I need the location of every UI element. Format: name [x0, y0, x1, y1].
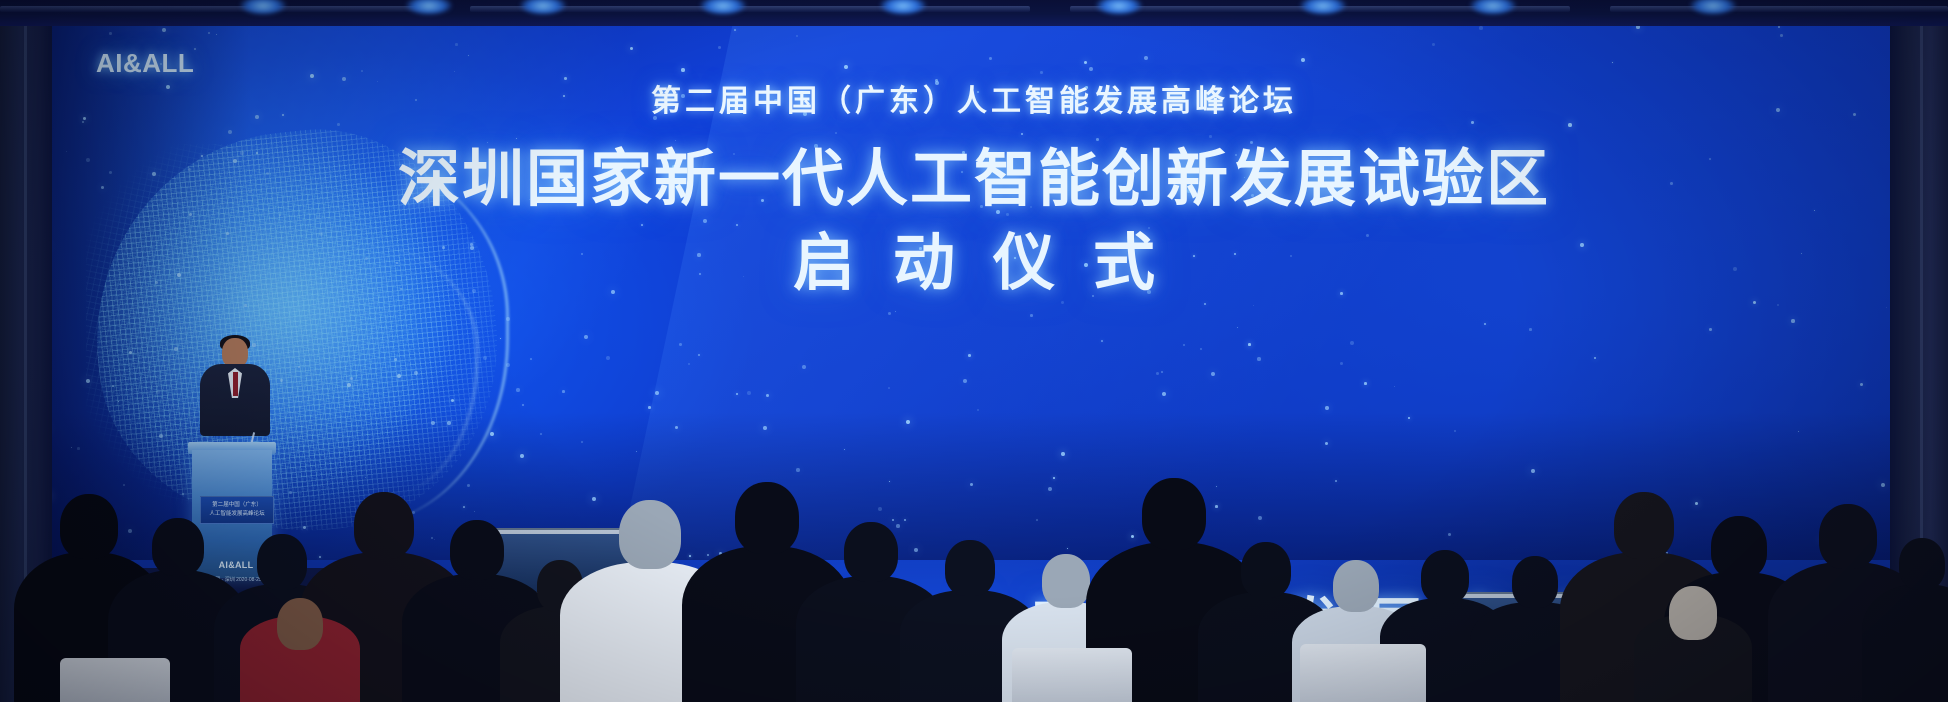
audience-head: [1042, 554, 1090, 608]
audience-person: [1862, 528, 1948, 702]
event-headline-line2: 启动仪式: [0, 212, 1948, 302]
audience-head: [945, 540, 995, 596]
audience-silhouettes: [0, 442, 1948, 702]
forum-subtitle: 第二届中国（广东）人工智能发展高峰论坛: [0, 76, 1948, 120]
audience-head: [1241, 542, 1291, 598]
audience-head: [1333, 560, 1379, 612]
audience-head: [1899, 538, 1945, 590]
audience-person: [1634, 576, 1752, 702]
conference-stage-photo: AI&ALL 第二届中国（广东）人工智能发展高峰论坛 深圳国家新一代人工智能创新…: [0, 0, 1948, 702]
audience-head: [619, 500, 681, 569]
audience-head: [1421, 550, 1469, 604]
audience-head: [450, 520, 504, 580]
speaker-tie: [233, 372, 238, 396]
audience-head: [844, 522, 898, 582]
audience-head: [1142, 478, 1206, 550]
audience-head: [1711, 516, 1767, 579]
brandmark-logo: AI&ALL: [96, 48, 194, 79]
audience-head: [1512, 556, 1558, 608]
audience-seat: [1012, 648, 1132, 702]
event-headline-line1: 深圳国家新一代人工智能创新发展试验区: [0, 128, 1948, 218]
audience-head: [735, 482, 799, 554]
audience-person: [240, 582, 360, 702]
audience-seat: [60, 658, 170, 702]
ceiling-truss: [0, 0, 1948, 26]
audience-head: [152, 518, 204, 576]
audience-seat: [1300, 644, 1426, 702]
